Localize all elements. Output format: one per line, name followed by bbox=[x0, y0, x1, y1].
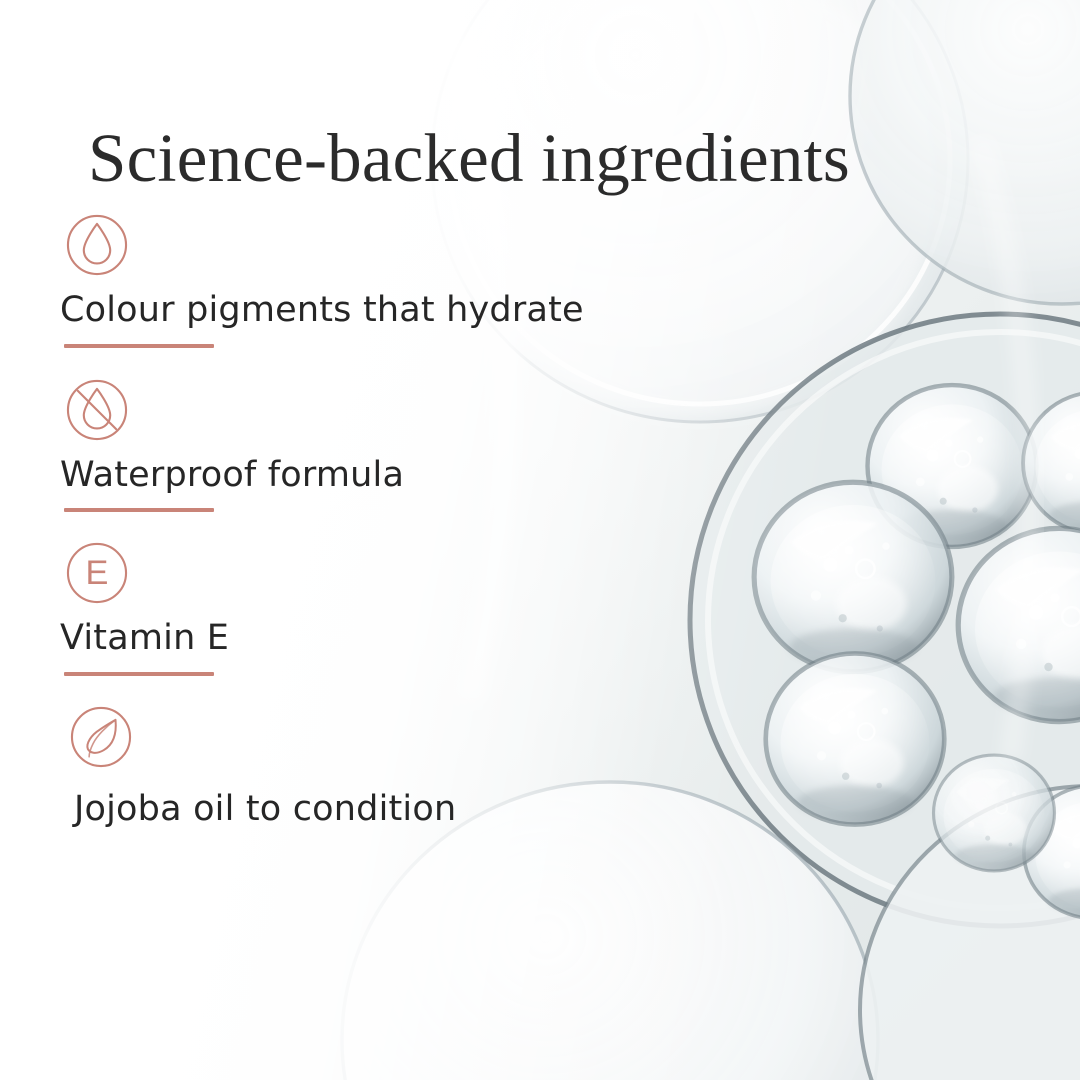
content-layer: Science-backed ingredients Colour pigmen… bbox=[0, 0, 1080, 1080]
page-title: Science-backed ingredients bbox=[88, 124, 1018, 193]
vitamin-e-glyph: E bbox=[86, 554, 109, 592]
feature-label: Waterproof formula bbox=[60, 452, 620, 499]
feature-label: Jojoba oil to condition bbox=[74, 786, 620, 833]
feature-label: Colour pigments that hydrate bbox=[60, 287, 620, 334]
feature-item-waterproof: Waterproof formula bbox=[60, 377, 620, 513]
feature-item-vitamin-e: E Vitamin E bbox=[60, 540, 620, 676]
feature-divider bbox=[64, 672, 214, 676]
feature-list: Colour pigments that hydrate Waterproof … bbox=[60, 212, 620, 832]
feature-item-colour-pigments: Colour pigments that hydrate bbox=[60, 212, 620, 348]
vitamin-e-letter-icon: E bbox=[64, 540, 130, 606]
water-droplet-icon bbox=[64, 212, 130, 278]
no-water-droplet-icon bbox=[64, 377, 130, 443]
feature-divider bbox=[64, 508, 214, 512]
leaf-icon bbox=[68, 704, 134, 770]
feature-item-jojoba-oil: Jojoba oil to condition bbox=[60, 704, 620, 833]
feature-divider bbox=[64, 344, 214, 348]
feature-label: Vitamin E bbox=[60, 615, 620, 662]
promo-card: Science-backed ingredients Colour pigmen… bbox=[0, 0, 1080, 1080]
